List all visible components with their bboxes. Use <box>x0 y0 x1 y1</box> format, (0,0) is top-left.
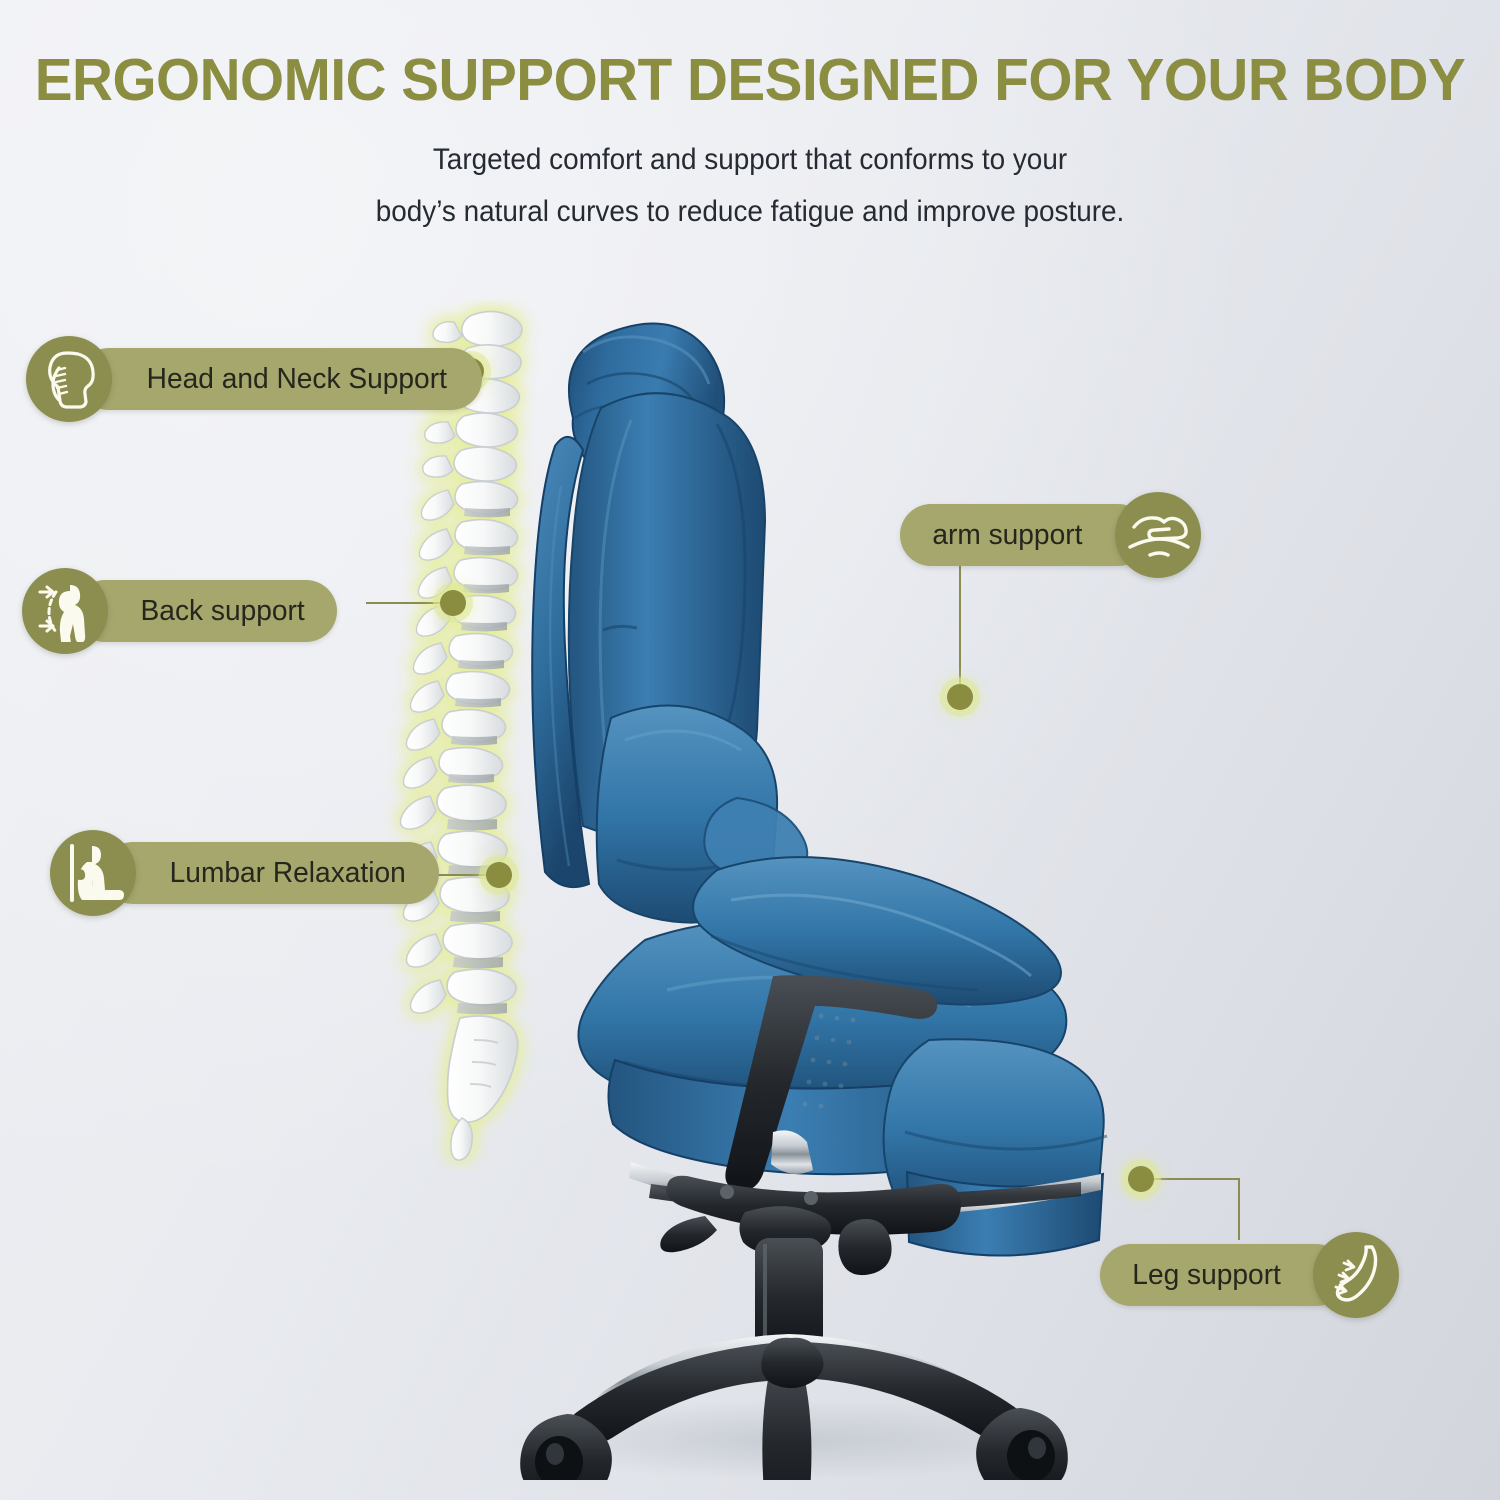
subtitle-line-2: body’s natural curves to reduce fatigue … <box>53 186 1448 238</box>
callout-label-leg-support: Leg support <box>1132 1259 1281 1292</box>
callout-label-back-support: Back support <box>141 595 305 628</box>
tension-knob <box>838 1219 891 1275</box>
subtitle-line-1: Targeted comfort and support that confor… <box>53 134 1448 186</box>
mechanism-bolt <box>720 1185 734 1199</box>
callout-head-neck-support[interactable]: Head and Neck Support <box>26 336 482 422</box>
hands-cradle-icon <box>1115 492 1201 578</box>
page-title: ERGONOMIC SUPPORT DESIGNED FOR YOUR BODY <box>30 46 1470 114</box>
foot-arrows-icon <box>1313 1232 1399 1318</box>
callout-pill-arm-support[interactable]: arm support <box>900 504 1149 566</box>
infographic-canvas: ERGONOMIC SUPPORT DESIGNED FOR YOUR BODY… <box>0 0 1500 1500</box>
connector-dot-arm-support <box>947 684 973 710</box>
office-chair-image <box>455 300 1175 1480</box>
callout-back-support[interactable]: Back support <box>22 568 337 654</box>
head-profile-spine-icon <box>26 336 112 422</box>
page-subtitle: Targeted comfort and support that confor… <box>53 134 1448 238</box>
connector-dot-leg-support <box>1128 1166 1154 1192</box>
callout-leg-support[interactable]: Leg support <box>1100 1232 1399 1318</box>
seated-lumbar-icon <box>50 830 136 916</box>
connector-dot-lumbar <box>486 862 512 888</box>
callout-pill-lumbar[interactable]: Lumbar Relaxation <box>102 842 439 904</box>
mechanism-bolt <box>804 1191 818 1205</box>
callout-pill-back-support[interactable]: Back support <box>74 580 337 642</box>
callout-arm-support[interactable]: arm support <box>900 492 1201 578</box>
callout-label-head-neck: Head and Neck Support <box>147 363 447 396</box>
tilt-lever <box>660 1216 717 1252</box>
callout-lumbar-relaxation[interactable]: Lumbar Relaxation <box>50 830 439 916</box>
connector-arm-support <box>959 560 961 692</box>
back-posture-arrows-icon <box>22 568 108 654</box>
connector-leg-support-h <box>1148 1178 1240 1180</box>
connector-leg-support-v <box>1238 1178 1240 1240</box>
callout-pill-head-neck[interactable]: Head and Neck Support <box>78 348 482 410</box>
connector-dot-back-support <box>440 590 466 616</box>
callout-label-arm-support: arm support <box>932 519 1082 552</box>
callout-label-lumbar: Lumbar Relaxation <box>170 857 406 890</box>
callout-pill-leg-support[interactable]: Leg support <box>1100 1244 1347 1306</box>
base-hub <box>761 1338 823 1388</box>
